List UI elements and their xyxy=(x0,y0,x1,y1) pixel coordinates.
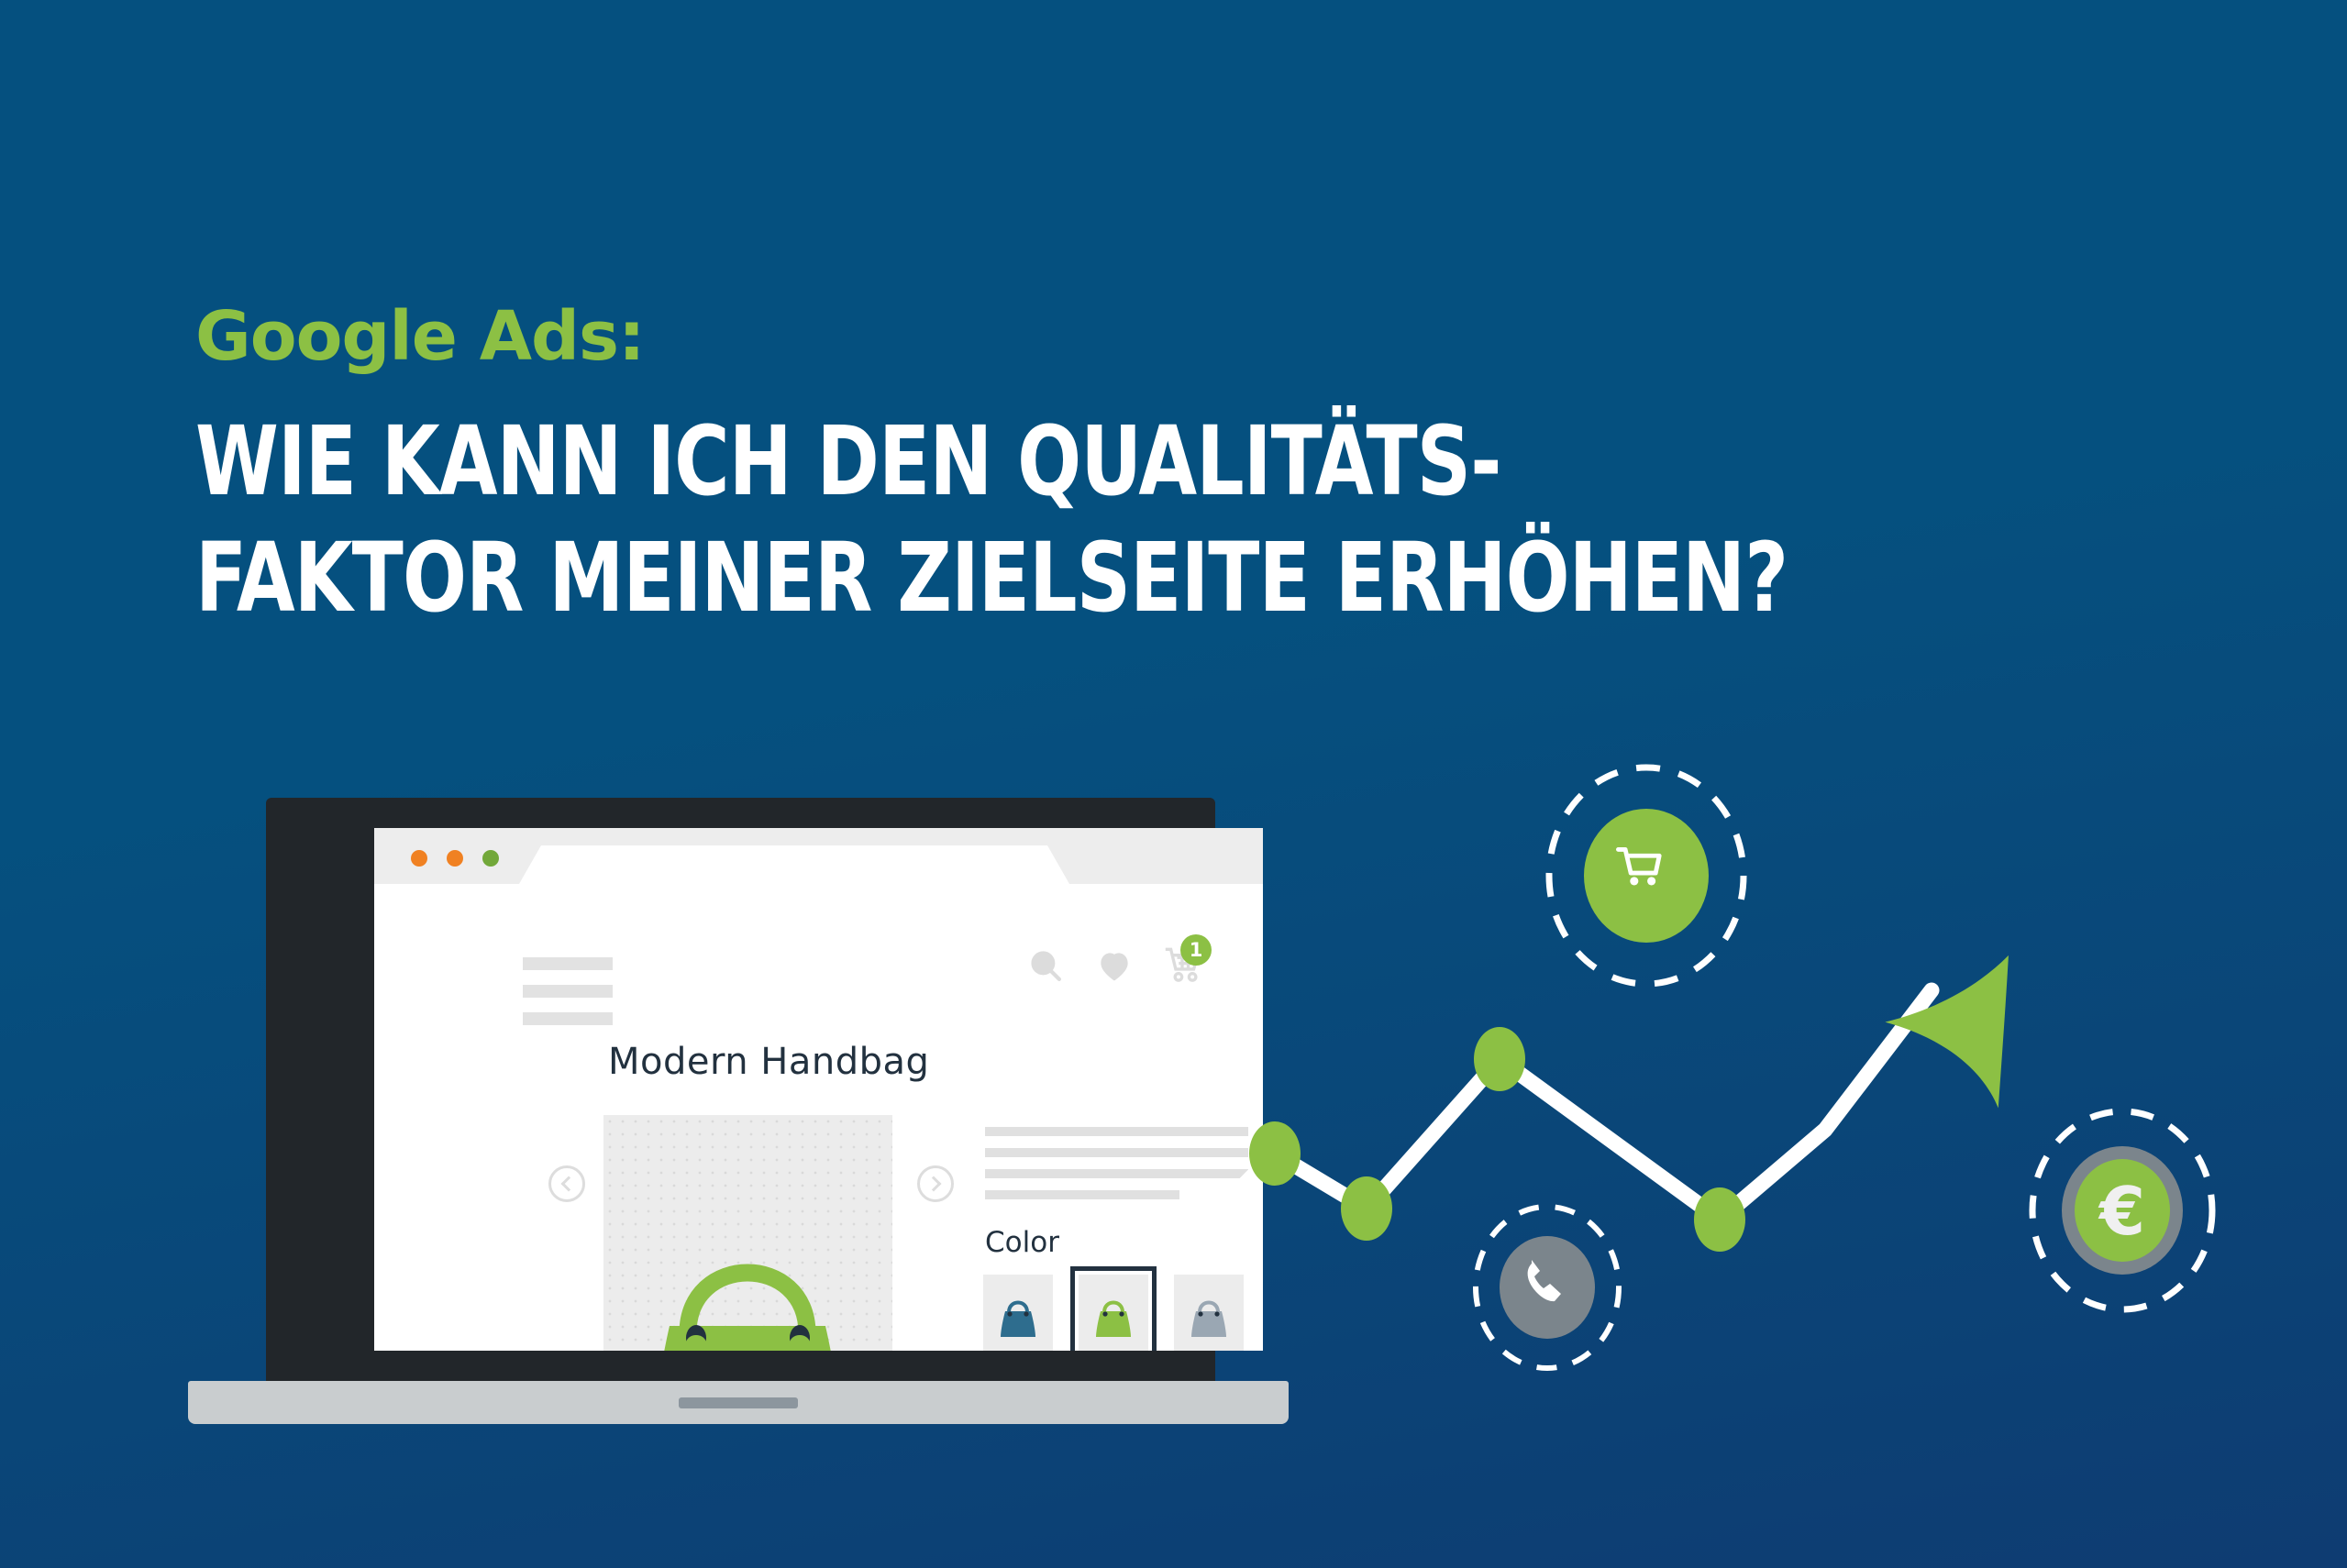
laptop-screen: 1 Modern Handbag xyxy=(374,828,1263,1351)
euro-badge: € xyxy=(2032,1111,2212,1309)
swatch-blue[interactable] xyxy=(983,1275,1053,1351)
laptop-mockup: 1 Modern Handbag xyxy=(188,798,1289,1476)
chart-node xyxy=(1694,1187,1745,1252)
chart-node xyxy=(1249,1121,1301,1186)
window-controls[interactable] xyxy=(411,850,499,867)
product-title: Modern Handbag xyxy=(608,1041,929,1083)
badge-circle xyxy=(1584,809,1709,943)
headline-kicker: Google Ads: xyxy=(195,303,2140,370)
window-close-dot[interactable] xyxy=(411,850,427,867)
laptop-base xyxy=(188,1381,1289,1424)
chevron-left-icon xyxy=(561,1176,577,1192)
swatch-green-selected[interactable] xyxy=(1079,1275,1148,1351)
headline-line-2: FAKTOR MEINER ZIELSEITE ERHÖHEN? xyxy=(195,520,1907,636)
phone-badge xyxy=(1476,1207,1619,1368)
heart-icon[interactable] xyxy=(1094,945,1135,990)
hamburger-bar xyxy=(523,957,613,970)
chart-node xyxy=(1474,1027,1525,1091)
hamburger-icon[interactable] xyxy=(523,957,613,1040)
chart-node xyxy=(1341,1176,1392,1241)
browser-chrome xyxy=(374,828,1263,884)
hamburger-bar xyxy=(523,1012,613,1025)
euro-icon: € xyxy=(2098,1173,2145,1250)
color-label: Color xyxy=(985,1226,1059,1259)
chart-svg: € xyxy=(1146,715,2347,1449)
headline-line-1: WIE KANN ICH DEN QUALITÄTS- xyxy=(195,403,1907,520)
laptop-lid: 1 Modern Handbag xyxy=(266,798,1215,1381)
gallery-next-button[interactable] xyxy=(917,1165,954,1202)
search-icon[interactable] xyxy=(1026,946,1065,989)
chevron-right-icon xyxy=(926,1176,942,1192)
cart-badge xyxy=(1549,767,1744,984)
product-image xyxy=(603,1115,892,1351)
window-minimize-dot[interactable] xyxy=(447,850,463,867)
swatch-inner xyxy=(1079,1275,1148,1351)
window-maximize-dot[interactable] xyxy=(482,850,499,867)
browser-tab[interactable] xyxy=(519,845,1069,884)
laptop-base-notch xyxy=(679,1397,798,1408)
growth-chart: € xyxy=(1146,715,2347,1449)
gallery-prev-button[interactable] xyxy=(548,1165,585,1202)
headline-block: Google Ads: WIE KANN ICH DEN QUALITÄTS- … xyxy=(195,303,2140,636)
hamburger-bar xyxy=(523,985,613,998)
